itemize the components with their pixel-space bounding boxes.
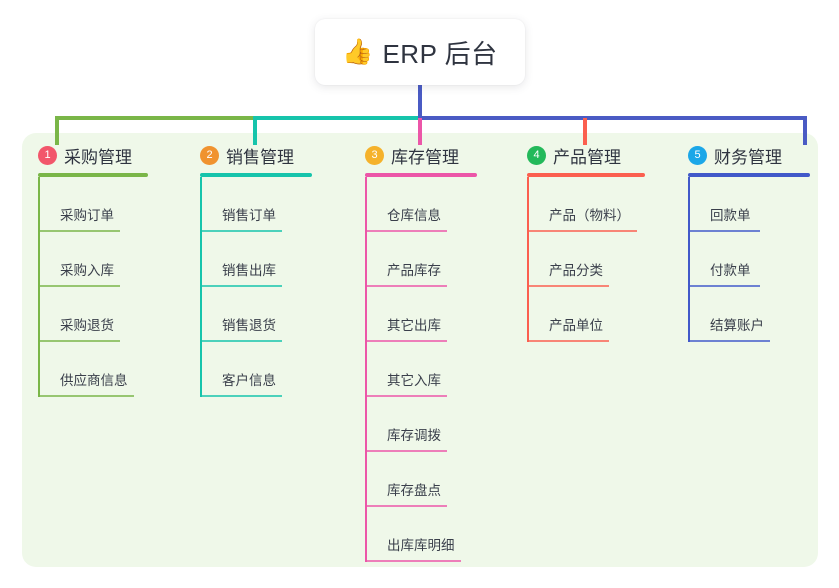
- branch-column-5: 5财务管理回款单付款单结算账户: [670, 142, 810, 342]
- branch-item-list: 仓库信息产品库存其它出库其它入库库存调拨库存盘点出库库明细: [365, 177, 477, 562]
- branch-number-badge: 4: [527, 146, 546, 165]
- branch-column-2: 2销售管理销售订单销售出库销售退货客户信息: [182, 142, 312, 397]
- branch-item-list: 销售订单销售出库销售退货客户信息: [200, 177, 312, 397]
- branch-item-label: 销售出库: [222, 259, 276, 279]
- branch-header-5[interactable]: 5财务管理: [670, 142, 810, 168]
- branch-item-list: 采购订单采购入库采购退货供应商信息: [38, 177, 148, 397]
- branch-item[interactable]: 出库库明细: [365, 507, 477, 562]
- branch-column-4: 4产品管理产品（物料）产品分类产品单位: [509, 142, 645, 342]
- branch-item-underline: [365, 560, 461, 562]
- branch-item-label: 销售退货: [222, 314, 276, 334]
- root-node-card[interactable]: 👍 ERP 后台: [315, 19, 525, 85]
- branch-item-label: 采购订单: [60, 204, 114, 224]
- branch-item[interactable]: 客户信息: [200, 342, 312, 397]
- branch-item-label: 产品单位: [549, 314, 603, 334]
- branch-item-label: 产品（物料）: [549, 204, 630, 224]
- branch-column-1: 1采购管理采购订单采购入库采购退货供应商信息: [20, 142, 148, 397]
- branch-item-list: 产品（物料）产品分类产品单位: [527, 177, 645, 342]
- branch-header-1[interactable]: 1采购管理: [20, 142, 148, 168]
- branch-item-label: 库存调拨: [387, 424, 441, 444]
- branch-item[interactable]: 仓库信息: [365, 177, 477, 232]
- branch-item[interactable]: 结算账户: [688, 287, 810, 342]
- branch-item-label: 客户信息: [222, 369, 276, 389]
- branch-item-label: 采购退货: [60, 314, 114, 334]
- branch-item-label: 付款单: [710, 259, 751, 279]
- branch-item[interactable]: 销售订单: [200, 177, 312, 232]
- branch-number-badge: 1: [38, 146, 57, 165]
- branch-item[interactable]: 采购退货: [38, 287, 148, 342]
- branch-title: 财务管理: [714, 143, 782, 168]
- branch-item[interactable]: 库存调拨: [365, 397, 477, 452]
- branch-item[interactable]: 采购入库: [38, 232, 148, 287]
- branch-item-underline: [688, 340, 770, 342]
- branch-item-label: 其它出库: [387, 314, 441, 334]
- branch-item-label: 产品分类: [549, 259, 603, 279]
- branch-item[interactable]: 供应商信息: [38, 342, 148, 397]
- branch-item[interactable]: 销售出库: [200, 232, 312, 287]
- branch-item-label: 结算账户: [710, 314, 764, 334]
- branch-item[interactable]: 产品分类: [527, 232, 645, 287]
- branch-item[interactable]: 库存盘点: [365, 452, 477, 507]
- branch-item-underline: [38, 395, 134, 397]
- branch-item[interactable]: 回款单: [688, 177, 810, 232]
- branch-item[interactable]: 其它入库: [365, 342, 477, 397]
- branch-item[interactable]: 销售退货: [200, 287, 312, 342]
- branch-item[interactable]: 采购订单: [38, 177, 148, 232]
- thumbs-up-icon: 👍: [342, 40, 373, 65]
- branch-number-badge: 3: [365, 146, 384, 165]
- branch-item-underline: [200, 395, 282, 397]
- branch-item-label: 采购入库: [60, 259, 114, 279]
- branch-number-badge: 2: [200, 146, 219, 165]
- branch-item-label: 供应商信息: [60, 369, 128, 389]
- branch-item-label: 库存盘点: [387, 479, 441, 499]
- branch-item-label: 出库库明细: [387, 534, 455, 554]
- branch-item[interactable]: 产品库存: [365, 232, 477, 287]
- branch-header-4[interactable]: 4产品管理: [509, 142, 645, 168]
- mindmap-diagram: 👍 ERP 后台 1采购管理采购订单采购入库采购退货供应商信息2销售管理销售订单…: [0, 0, 839, 588]
- branch-item-label: 回款单: [710, 204, 751, 224]
- root-node-content: 👍 ERP 后台: [342, 34, 497, 71]
- branch-item[interactable]: 产品（物料）: [527, 177, 645, 232]
- branch-item[interactable]: 其它出库: [365, 287, 477, 342]
- branch-item[interactable]: 付款单: [688, 232, 810, 287]
- branch-item[interactable]: 产品单位: [527, 287, 645, 342]
- branch-title: 库存管理: [391, 143, 459, 168]
- branch-header-3[interactable]: 3库存管理: [347, 142, 477, 168]
- branch-item-list: 回款单付款单结算账户: [688, 177, 810, 342]
- branch-number-badge: 5: [688, 146, 707, 165]
- branch-item-label: 销售订单: [222, 204, 276, 224]
- branch-title: 产品管理: [553, 143, 621, 168]
- branch-item-underline: [527, 340, 609, 342]
- root-title: ERP 后台: [382, 34, 497, 71]
- branch-item-label: 仓库信息: [387, 204, 441, 224]
- branch-column-3: 3库存管理仓库信息产品库存其它出库其它入库库存调拨库存盘点出库库明细: [347, 142, 477, 562]
- branch-item-label: 产品库存: [387, 259, 441, 279]
- branch-header-2[interactable]: 2销售管理: [182, 142, 312, 168]
- branch-title: 采购管理: [64, 143, 132, 168]
- branch-item-label: 其它入库: [387, 369, 441, 389]
- branch-title: 销售管理: [226, 143, 294, 168]
